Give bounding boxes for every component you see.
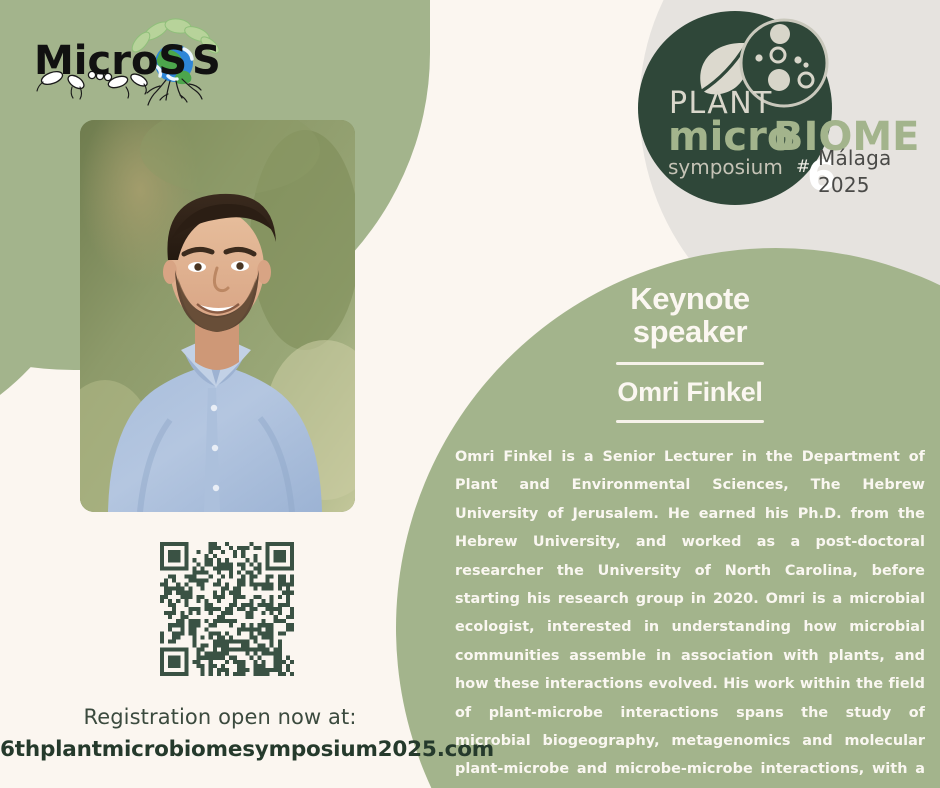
keynote-label: Keynote speaker (455, 282, 925, 348)
qr-code[interactable] (156, 542, 298, 676)
event-city: Málaga (818, 145, 891, 172)
speaker-name: Omri Finkel (455, 377, 925, 408)
registration-prompt: Registration open now at: (0, 705, 440, 729)
poster-canvas: MicroS S PLANT m (0, 0, 940, 788)
speaker-bio: Omri Finkel is a Senior Lecturer in the … (455, 443, 925, 788)
keynote-heading-block: Keynote speaker Omri Finkel (455, 282, 925, 423)
microsos-wordmark-right: S (192, 38, 221, 84)
event-year: 2025 (818, 172, 891, 199)
microsos-logo: MicroS S (34, 18, 234, 110)
divider-bottom (616, 420, 764, 423)
plant-microbiome-symposium-logo: PLANT micro BIOME symposium # 6 (628, 10, 940, 225)
event-location-block: Málaga 2025 (818, 145, 891, 199)
speaker-photo (80, 120, 355, 512)
qr-code-image[interactable] (156, 542, 298, 676)
microbe-flagella-icon (37, 82, 146, 99)
logo-symposium-text: symposium (668, 155, 783, 179)
registration-url[interactable]: 6thplantmicrobiomesymposium2025.com (0, 737, 440, 762)
divider-top (616, 362, 764, 365)
registration-block: Registration open now at: 6thplantmicrob… (0, 705, 440, 762)
microsos-wordmark-left: MicroS (34, 38, 187, 84)
